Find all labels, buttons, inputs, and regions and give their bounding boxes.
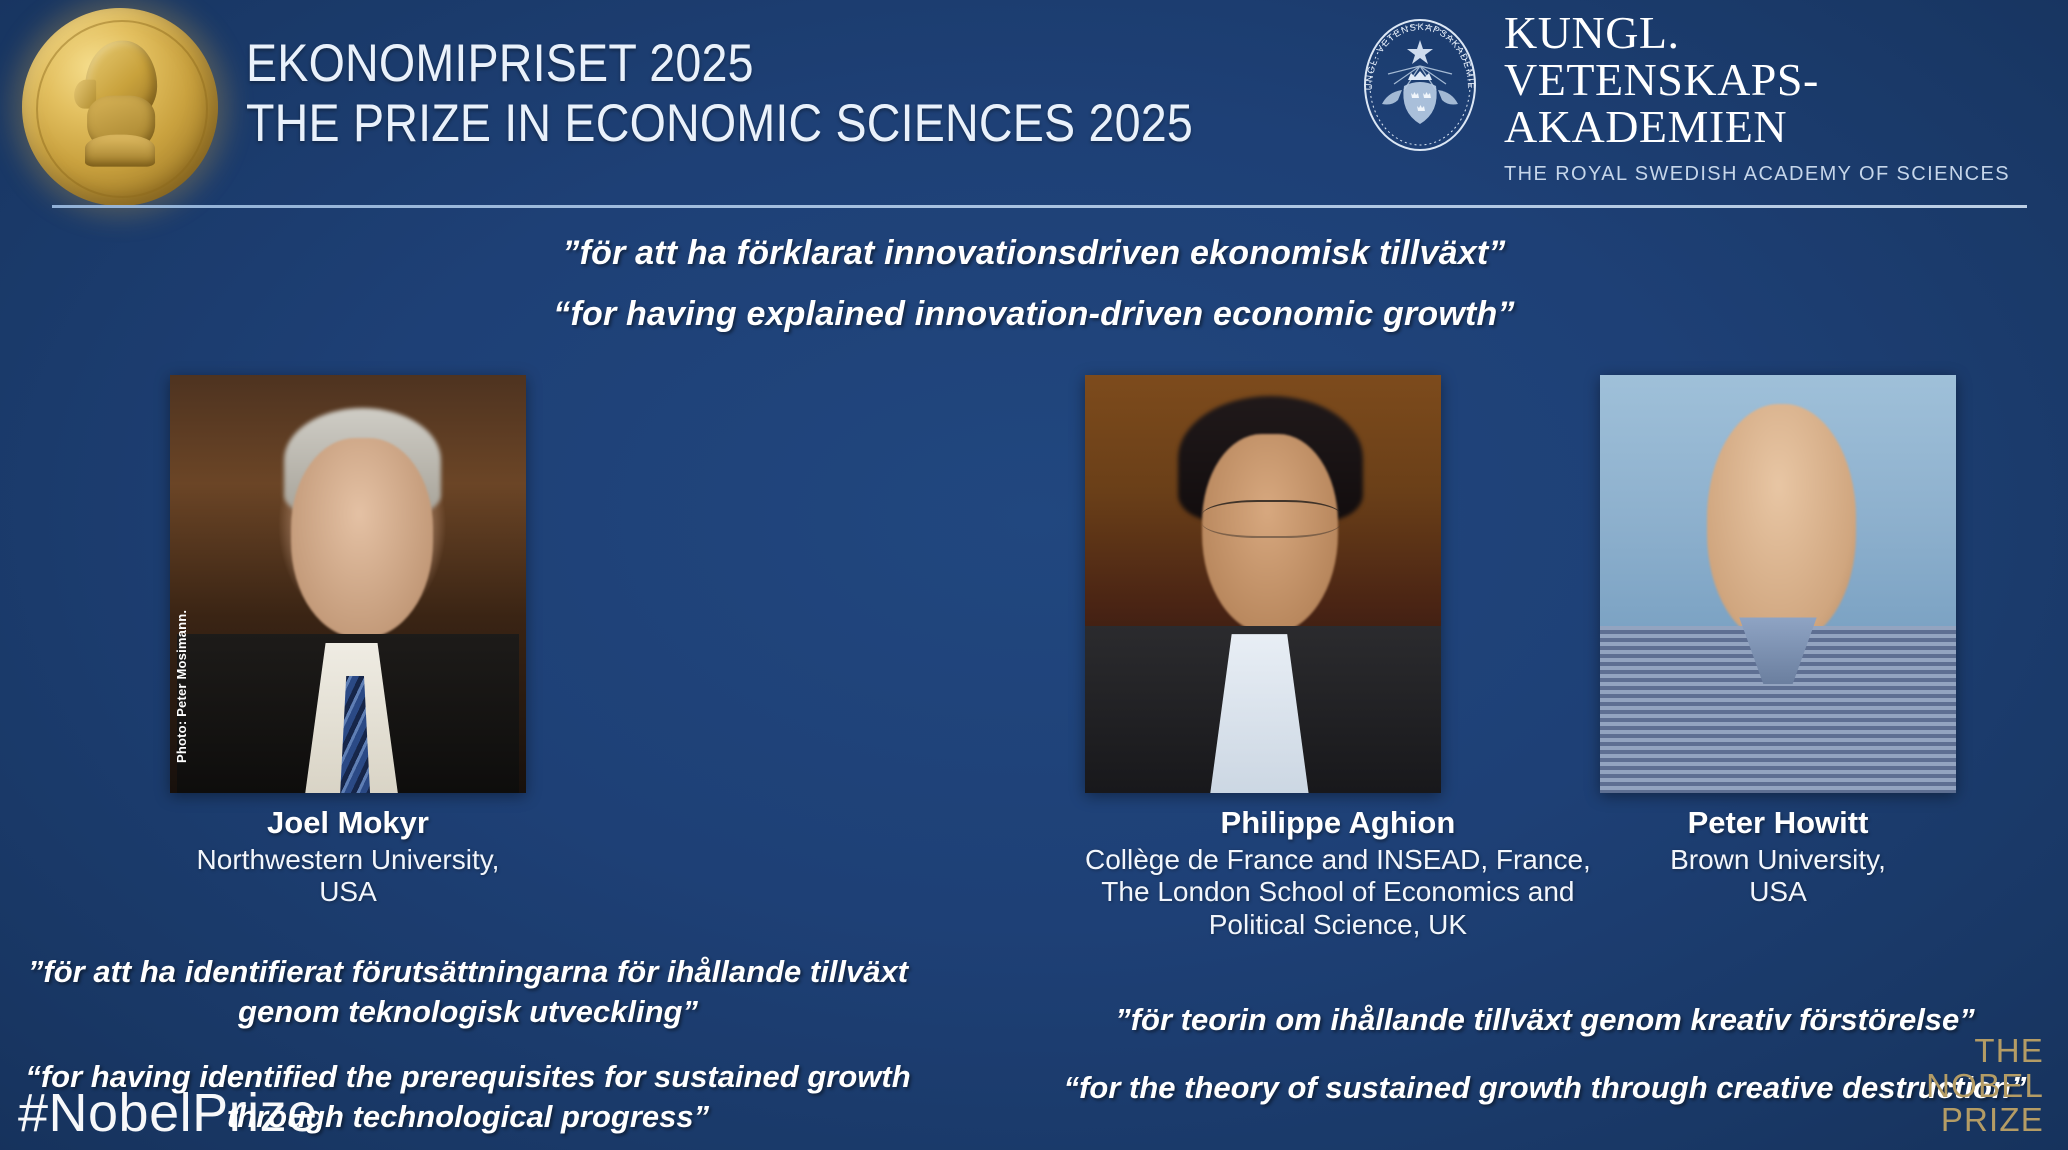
citation-aghion-howitt-swedish: ”för teorin om ihållande tillväxt genom … — [1040, 1000, 2050, 1040]
affiliation-line: Northwestern University, — [170, 844, 526, 876]
header: EKONOMIPRISET 2025 THE PRIZE IN ECONOMIC… — [0, 0, 2068, 210]
main-citation-swedish: ”för att ha förklarat innovationsdriven … — [0, 234, 2068, 273]
laureate-affiliation: Brown University, USA — [1600, 844, 1956, 909]
page-title: EKONOMIPRISET 2025 THE PRIZE IN ECONOMIC… — [246, 34, 1322, 154]
laureate-photo-aghion — [1085, 375, 1441, 793]
academy-seal-icon: KUNGL. VETENSKAPSAKADEMIEN — [1358, 14, 1482, 156]
laureate-affiliation: Collège de France and INSEAD, France, Th… — [1085, 844, 1591, 941]
title-swedish: EKONOMIPRISET 2025 — [246, 34, 1193, 94]
title-english: THE PRIZE IN ECONOMIC SCIENCES 2025 — [246, 94, 1193, 154]
portrait-face — [291, 438, 433, 639]
medal-collar — [85, 135, 155, 166]
medal-profile — [65, 36, 175, 167]
academy-logo: KUNGL. VETENSKAPSAKADEMIEN — [1358, 10, 2010, 186]
nobel-watermark-line-2: NOBEL — [1926, 1069, 2044, 1104]
laureate-photo-howitt — [1600, 375, 1956, 793]
academy-line-2: VETENSKAPS- — [1504, 57, 2010, 104]
laureate-name: Joel Mokyr — [170, 805, 526, 841]
nobel-watermark-line-3: PRIZE — [1926, 1103, 2044, 1138]
photo-credit: Photo: Peter Mosimann. — [174, 610, 189, 763]
citation-mokyr-swedish: ”för att ha identifierat förutsättningar… — [8, 952, 928, 1033]
affiliation-line: Collège de France and INSEAD, France, — [1085, 844, 1591, 876]
laureate-affiliation: Northwestern University, USA — [170, 844, 526, 909]
citation-aghion-howitt-english: “for the theory of sustained growth thro… — [1040, 1068, 2050, 1108]
nobel-medal-icon — [22, 8, 218, 206]
affiliation-line: USA — [170, 876, 526, 908]
nobel-prize-watermark: THE NOBEL PRIZE — [1926, 1034, 2044, 1138]
laureate-photo-mokyr: Photo: Peter Mosimann. — [170, 375, 526, 793]
academy-line-1: KUNGL. — [1504, 10, 2010, 57]
main-citation: ”för att ha förklarat innovationsdriven … — [0, 234, 2068, 334]
affiliation-line: Brown University, — [1600, 844, 1956, 876]
affiliation-line: Political Science, UK — [1085, 909, 1591, 941]
hashtag-watermark: #NobelPrize — [18, 1082, 318, 1144]
affiliation-line: USA — [1600, 876, 1956, 908]
academy-line-3: AKADEMIEN — [1504, 104, 2010, 151]
portrait-face — [1707, 404, 1857, 642]
nobel-announcement-slide: EKONOMIPRISET 2025 THE PRIZE IN ECONOMIC… — [0, 0, 2068, 1150]
laureate-card-howitt: Peter Howitt Brown University, USA — [1600, 375, 1956, 909]
header-divider — [52, 205, 2027, 208]
academy-subtitle: THE ROYAL SWEDISH ACADEMY OF SCIENCES — [1504, 163, 2010, 186]
portrait-glasses — [1202, 500, 1341, 537]
laureate-card-aghion: Philippe Aghion Collège de France and IN… — [1085, 375, 1591, 941]
laureate-name: Philippe Aghion — [1085, 805, 1591, 841]
laureate-card-mokyr: Photo: Peter Mosimann. Joel Mokyr Northw… — [170, 375, 526, 909]
affiliation-line: The London School of Economics and — [1085, 876, 1591, 908]
main-citation-english: “for having explained innovation-driven … — [0, 295, 2068, 334]
academy-wordmark: KUNGL. VETENSKAPS- AKADEMIEN THE ROYAL S… — [1504, 10, 2010, 186]
citation-aghion-howitt: ”för teorin om ihållande tillväxt genom … — [1040, 1000, 2050, 1109]
nobel-watermark-line-1: THE — [1926, 1034, 2044, 1069]
laureate-name: Peter Howitt — [1600, 805, 1956, 841]
